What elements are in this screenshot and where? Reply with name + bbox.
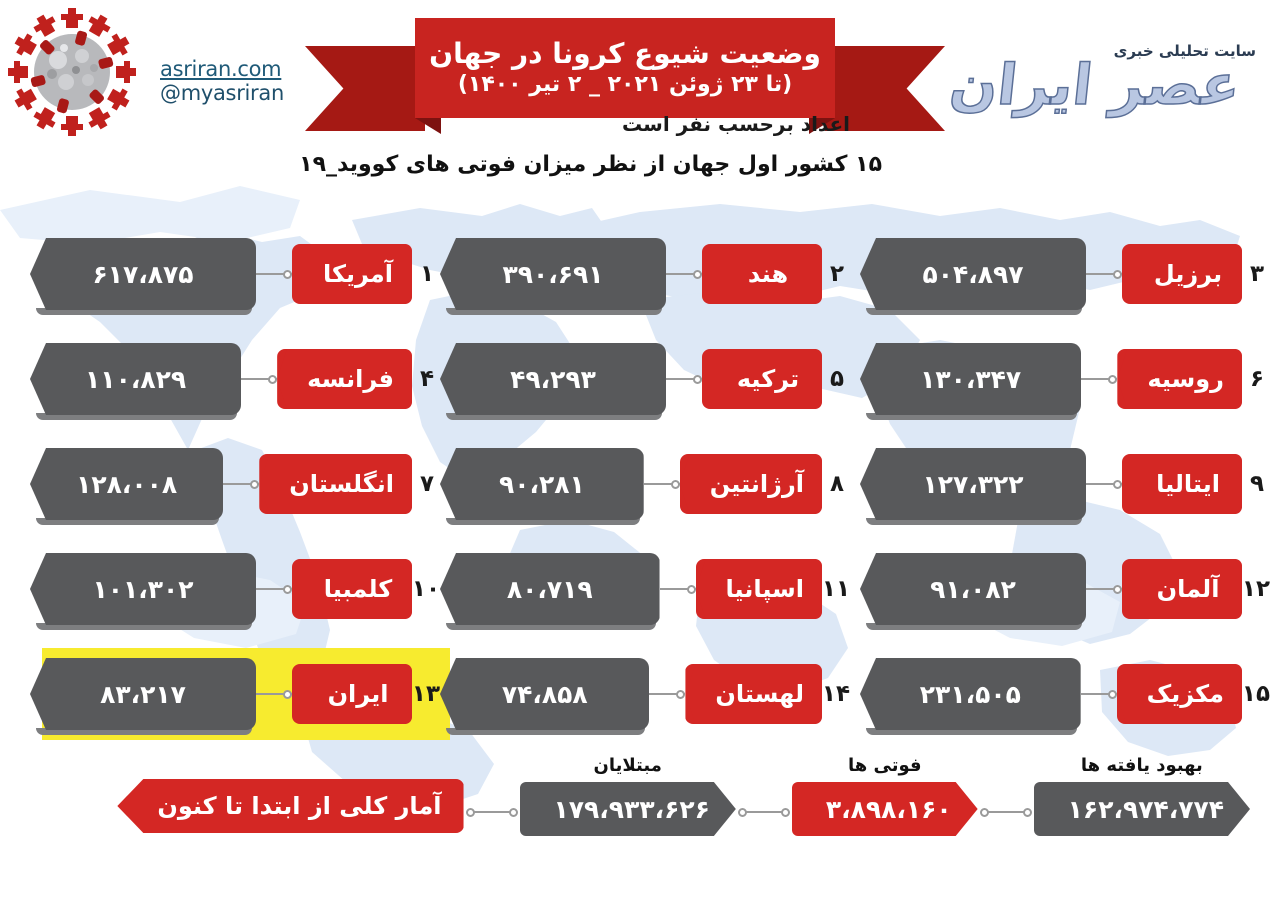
country-name: هند — [748, 260, 788, 288]
infected-bar: ۱۷۹،۹۳۳،۶۲۶ — [520, 782, 736, 836]
country-cell: ۷ انگلستان ۱۲۸،۰۰۸ — [30, 438, 440, 530]
connector-dot — [1113, 480, 1122, 489]
value-bar: ۹۰،۲۸۱ — [440, 448, 644, 520]
country-cell: ۵ ترکیه ۴۹،۲۹۳ — [440, 333, 850, 425]
grid-row: ۱۵ مکزیک ۲۳۱،۵۰۵ ۱۴ لهستان ۷۴،۸۵۸ ۱۳ ایر… — [0, 648, 1280, 753]
connector-dot — [268, 375, 277, 384]
connector-dot — [283, 690, 292, 699]
connector-line — [644, 479, 680, 489]
rank-label: ۴ — [414, 366, 440, 392]
country-tag[interactable]: ترکیه — [702, 349, 822, 409]
connector-dot — [250, 480, 259, 489]
connector-line — [1086, 584, 1122, 594]
connector-line — [256, 584, 292, 594]
country-tag[interactable]: آلمان — [1122, 559, 1242, 619]
country-cell: ۶ روسیه ۱۳۰،۳۴۷ — [860, 333, 1270, 425]
social-handle-link[interactable]: @myasriran — [160, 82, 310, 106]
connector-line — [223, 479, 259, 489]
value-bar: ۷۴،۸۵۸ — [440, 658, 649, 730]
country-tag[interactable]: هند — [702, 244, 822, 304]
connector-dot — [1113, 585, 1122, 594]
death-count: ۹۱،۰۸۲ — [930, 575, 1016, 604]
country-name: مکزیک — [1147, 680, 1224, 708]
death-count: ۲۳۱،۵۰۵ — [920, 680, 1021, 709]
value-bar: ۶۱۷،۸۷۵ — [30, 238, 256, 310]
death-count: ۴۹،۲۹۳ — [510, 365, 596, 394]
country-cell: ۱ آمریکا ۶۱۷،۸۷۵ — [30, 228, 440, 320]
infected-block: مبتلایان ۱۷۹،۹۳۳،۶۲۶ — [520, 755, 736, 836]
connector-line — [1081, 689, 1117, 699]
rank-label: ۱۲ — [1244, 576, 1270, 602]
recovered-block: بهبود یافته ها ۱۶۲،۹۷۴،۷۷۴ — [1034, 755, 1250, 836]
deaths-bar: ۳،۸۹۸،۱۶۰ — [792, 782, 978, 836]
coronavirus-icon — [8, 8, 136, 136]
country-name: ایران — [328, 680, 389, 708]
website-url-link[interactable]: asriran.com — [160, 58, 310, 82]
global-summary: بهبود یافته ها ۱۶۲،۹۷۴،۷۷۴ فوتی ها ۳،۸۹۸… — [0, 755, 1280, 865]
value-bar: ۹۱،۰۸۲ — [860, 553, 1086, 625]
country-tag[interactable]: برزیل — [1122, 244, 1242, 304]
connector-line — [241, 374, 277, 384]
connector-dot — [693, 270, 702, 279]
connector-dot — [1108, 375, 1117, 384]
country-tag[interactable]: آرژانتین — [680, 454, 822, 514]
country-cell: ۱۱ اسپانیا ۸۰،۷۱۹ — [440, 543, 850, 635]
value-bar: ۸۳،۲۱۷ — [30, 658, 256, 730]
country-name: روسیه — [1147, 365, 1224, 393]
value-bar: ۲۳۱،۵۰۵ — [860, 658, 1081, 730]
country-cell: ۱۵ مکزیک ۲۳۱،۵۰۵ — [860, 648, 1270, 740]
country-cell: ۱۰ کلمبیا ۱۰۱،۳۰۲ — [30, 543, 440, 635]
country-tag[interactable]: ایتالیا — [1122, 454, 1242, 514]
death-count: ۱۳۰،۳۴۷ — [920, 365, 1021, 394]
country-cell-highlighted-iran: ۱۳ ایران ۸۳،۲۱۷ — [30, 648, 440, 740]
country-cell: ۲ هند ۳۹۰،۶۹۱ — [440, 228, 850, 320]
value-bar: ۱۱۰،۸۲۹ — [30, 343, 241, 415]
rank-label: ۶ — [1244, 366, 1270, 392]
grid-row: ۹ ایتالیا ۱۲۷،۳۲۲ ۸ آرژانتین ۹۰،۲۸۱ ۷ ان… — [0, 438, 1280, 543]
rank-label: ۱۴ — [824, 681, 850, 707]
country-name: آلمان — [1157, 575, 1220, 603]
value-bar: ۴۹،۲۹۳ — [440, 343, 666, 415]
summary-title-bar: آمار کلی از ابتدا تا کنون — [117, 779, 463, 833]
site-links[interactable]: asriran.com @myasriran — [160, 58, 310, 105]
rank-label: ۱۳ — [414, 681, 440, 707]
ribbon-banner: وضعیت شیوع کرونا در جهان (تا ۲۳ ژوئن ۲۰۲… — [415, 18, 835, 118]
country-tag[interactable]: ایران — [292, 664, 412, 724]
rank-label: ۱۵ — [1244, 681, 1270, 707]
death-count: ۹۰،۲۸۱ — [499, 470, 585, 499]
connector-dot — [693, 375, 702, 384]
connector-line — [1086, 269, 1122, 279]
death-count: ۵۰۴،۸۹۷ — [922, 260, 1023, 289]
deaths-label: فوتی ها — [848, 755, 922, 776]
value-bar: ۵۰۴،۸۹۷ — [860, 238, 1086, 310]
connector-line — [660, 584, 696, 594]
page-title: وضعیت شیوع کرونا در جهان — [429, 38, 821, 70]
value-bar: ۸۰،۷۱۹ — [440, 553, 660, 625]
connector-line — [1081, 374, 1117, 384]
rank-label: ۱۱ — [824, 576, 850, 602]
recovered-bar: ۱۶۲،۹۷۴،۷۷۴ — [1034, 782, 1250, 836]
recovered-value: ۱۶۲،۹۷۴،۷۷۴ — [1068, 795, 1224, 824]
death-count: ۸۳،۲۱۷ — [100, 680, 186, 709]
infected-label: مبتلایان — [594, 755, 662, 776]
summary-connector — [464, 785, 520, 839]
death-count: ۷۴،۸۵۸ — [502, 680, 588, 709]
grid-row: ۶ روسیه ۱۳۰،۳۴۷ ۵ ترکیه ۴۹،۲۹۳ ۴ فرانسه … — [0, 333, 1280, 438]
country-tag[interactable]: اسپانیا — [696, 559, 822, 619]
country-name: کلمبیا — [324, 575, 392, 603]
connector-line — [666, 374, 702, 384]
rank-label: ۸ — [824, 471, 850, 497]
country-tag[interactable]: روسیه — [1117, 349, 1242, 409]
country-name: آمریکا — [323, 260, 393, 288]
death-count: ۱۰۱،۳۰۲ — [92, 575, 193, 604]
country-cell: ۱۲ آلمان ۹۱،۰۸۲ — [860, 543, 1270, 635]
connector-line — [256, 269, 292, 279]
connector-dot — [1108, 690, 1117, 699]
country-name: آرژانتین — [710, 470, 804, 498]
rank-label: ۳ — [1244, 261, 1270, 287]
units-note: اعداد برحسب نفر است — [622, 112, 850, 136]
country-name: برزیل — [1154, 260, 1222, 288]
value-bar: ۱۰۱،۳۰۲ — [30, 553, 256, 625]
country-tag[interactable]: آمریکا — [292, 244, 412, 304]
country-tag[interactable]: لهستان — [685, 664, 822, 724]
scope-note: ۱۵ کشور اول جهان از نظر میزان فوتی های ک… — [299, 152, 882, 177]
country-tag[interactable]: انگلستان — [259, 454, 412, 514]
country-cell: ۹ ایتالیا ۱۲۷،۳۲۲ — [860, 438, 1270, 530]
death-count: ۳۹۰،۶۹۱ — [502, 260, 603, 289]
value-bar: ۳۹۰،۶۹۱ — [440, 238, 666, 310]
summary-connector — [736, 785, 792, 839]
rank-label: ۷ — [414, 471, 440, 497]
infected-value: ۱۷۹،۹۳۳،۶۲۶ — [554, 795, 710, 824]
deaths-block: فوتی ها ۳،۸۹۸،۱۶۰ — [792, 755, 978, 836]
country-tag[interactable]: مکزیک — [1117, 664, 1242, 724]
death-count: ۶۱۷،۸۷۵ — [92, 260, 193, 289]
page-date-range: (تا ۲۳ ژوئن ۲۰۲۱ _ ۲ تیر ۱۴۰۰) — [458, 72, 792, 98]
value-bar: ۱۲۸،۰۰۸ — [30, 448, 223, 520]
connector-line — [649, 689, 685, 699]
country-tag[interactable]: کلمبیا — [292, 559, 412, 619]
connector-dot — [676, 690, 685, 699]
connector-dot — [671, 480, 680, 489]
connector-line — [666, 269, 702, 279]
rank-label: ۱ — [414, 261, 440, 287]
connector-line — [1086, 479, 1122, 489]
value-bar: ۱۲۷،۳۲۲ — [860, 448, 1086, 520]
value-bar: ۱۳۰،۳۴۷ — [860, 343, 1081, 415]
rank-label: ۹ — [1244, 471, 1270, 497]
rank-label: ۲ — [824, 261, 850, 287]
country-name: لهستان — [715, 680, 804, 708]
death-count: ۱۲۷،۳۲۲ — [922, 470, 1023, 499]
recovered-label: بهبود یافته ها — [1081, 755, 1203, 776]
country-tag[interactable]: فرانسه — [277, 349, 412, 409]
death-count: ۱۱۰،۸۲۹ — [85, 365, 186, 394]
country-cell: ۸ آرژانتین ۹۰،۲۸۱ — [440, 438, 850, 530]
summary-title-block: آمار کلی از ابتدا تا کنون — [117, 779, 463, 833]
summary-title: آمار کلی از ابتدا تا کنون — [157, 792, 441, 820]
deaths-value: ۳،۸۹۸،۱۶۰ — [826, 795, 952, 824]
death-count: ۸۰،۷۱۹ — [507, 575, 593, 604]
ribbon-tail-left — [305, 46, 425, 131]
connector-line — [256, 689, 292, 699]
country-grid: ۳ برزیل ۵۰۴،۸۹۷ ۲ هند ۳۹۰،۶۹۱ ۱ آمریکا ۶… — [0, 228, 1280, 753]
grid-row: ۱۲ آلمان ۹۱،۰۸۲ ۱۱ اسپانیا ۸۰،۷۱۹ ۱۰ کلم… — [0, 543, 1280, 648]
page-header: asriran.com @myasriran وضعیت شیوع کرونا … — [0, 0, 1280, 185]
country-name: ایتالیا — [1156, 470, 1220, 498]
country-name: اسپانیا — [726, 575, 804, 603]
country-name: انگلستان — [289, 470, 394, 498]
country-cell: ۴ فرانسه ۱۱۰،۸۲۹ — [30, 333, 440, 425]
summary-connector — [978, 785, 1034, 839]
country-cell: ۳ برزیل ۵۰۴،۸۹۷ — [860, 228, 1270, 320]
asriran-logo[interactable]: سایت تحلیلی خبری عصر ایران — [962, 36, 1262, 136]
connector-dot — [283, 270, 292, 279]
connector-dot — [283, 585, 292, 594]
connector-dot — [687, 585, 696, 594]
country-name: ترکیه — [737, 365, 799, 393]
logo-brand: عصر ایران — [947, 58, 1243, 114]
rank-label: ۱۰ — [414, 576, 440, 602]
infographic-page: asriran.com @myasriran وضعیت شیوع کرونا … — [0, 0, 1280, 904]
connector-dot — [1113, 270, 1122, 279]
country-name: فرانسه — [307, 365, 394, 393]
death-count: ۱۲۸،۰۰۸ — [76, 470, 177, 499]
rank-label: ۵ — [824, 366, 850, 392]
grid-row: ۳ برزیل ۵۰۴،۸۹۷ ۲ هند ۳۹۰،۶۹۱ ۱ آمریکا ۶… — [0, 228, 1280, 333]
country-cell: ۱۴ لهستان ۷۴،۸۵۸ — [440, 648, 850, 740]
